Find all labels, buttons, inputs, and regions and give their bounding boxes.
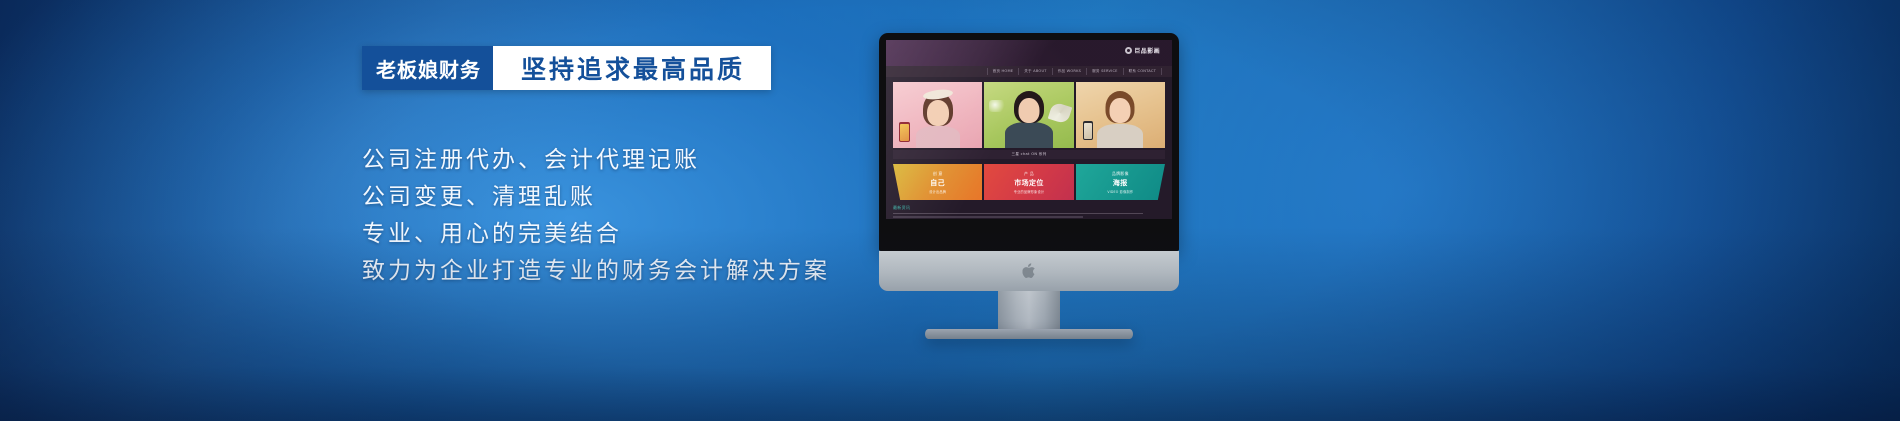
- site-hero: 巨品影画: [886, 40, 1172, 66]
- phone-prop-icon: [1083, 121, 1093, 140]
- site-name: 巨品影画: [1134, 46, 1160, 55]
- promo-top: 创 意: [933, 171, 943, 177]
- imac-screen: 巨品影画 首页 HOME 关于 ABOUT 作品 WORKS 服务 SERVIC…: [886, 40, 1172, 219]
- promo-main: 自己: [930, 178, 945, 188]
- nav-item-home[interactable]: 首页 HOME: [987, 68, 1019, 75]
- fan-prop-icon: [1047, 101, 1072, 124]
- imac-stand-neck: [998, 291, 1060, 329]
- nav-item-contact[interactable]: 联系 CONTACT: [1123, 68, 1162, 75]
- footer-placeholder-line: [893, 216, 1083, 218]
- promo-banner: 老板娘财务 坚持追求最高品质 公司注册代办、会计代理记账 公司变更、清理乱账 专…: [0, 0, 1900, 421]
- site-footer: 最新资讯: [893, 205, 1165, 219]
- promo-sub: 专业的品牌形象设计: [1014, 189, 1045, 194]
- phone-prop-icon: [899, 122, 910, 142]
- figure-head: [1018, 98, 1039, 123]
- model-photo-beige[interactable]: [1076, 82, 1165, 148]
- nav-item-service[interactable]: 服务 SERVICE: [1086, 68, 1122, 75]
- figure-body: [1005, 122, 1053, 148]
- model-photo-pink[interactable]: [893, 82, 982, 148]
- figure-body: [916, 126, 960, 148]
- promo-top: 产 品: [1024, 171, 1034, 177]
- promo-sub: VIDEO 影像制作: [1107, 189, 1133, 194]
- promo-card-product[interactable]: 产 品 市场定位 专业的品牌形象设计: [984, 164, 1073, 200]
- circle-logo-icon: [1125, 47, 1132, 54]
- photo-row: [893, 82, 1165, 148]
- nav-item-works[interactable]: 作品 WORKS: [1052, 68, 1086, 75]
- footer-title: 最新资讯: [893, 205, 1165, 211]
- nav-item-about[interactable]: 关于 ABOUT: [1018, 68, 1051, 75]
- promo-main: 海报: [1113, 178, 1128, 188]
- promo-row: 创 意 自己 设计出品牌 产 品 市场定位 专业的品牌形象设计 品牌影像: [893, 164, 1165, 200]
- imac-bezel: 巨品影画 首页 HOME 关于 ABOUT 作品 WORKS 服务 SERVIC…: [879, 33, 1179, 251]
- figure-body: [1097, 124, 1143, 148]
- model-photo-green[interactable]: [984, 82, 1073, 148]
- apple-logo-icon: [1023, 263, 1036, 278]
- brand-label: 老板娘财务: [362, 46, 493, 90]
- imac-chin: [879, 251, 1179, 291]
- overlay-text-glow: [989, 100, 1009, 112]
- imac-mockup: 巨品影画 首页 HOME 关于 ABOUT 作品 WORKS 服务 SERVIC…: [879, 33, 1179, 339]
- headline-bar: 老板娘财务 坚持追求最高品质: [362, 46, 771, 90]
- footer-divider: [893, 213, 1143, 214]
- promo-card-poster[interactable]: 品牌影像 海报 VIDEO 影像制作: [1076, 164, 1165, 200]
- website-preview: 巨品影画 首页 HOME 关于 ABOUT 作品 WORKS 服务 SERVIC…: [886, 40, 1172, 219]
- site-body: 三星 chat ON 系列 创 意 自己 设计出品牌 产 品 市场定位: [886, 77, 1172, 219]
- promo-card-creative[interactable]: 创 意 自己 设计出品牌: [893, 164, 982, 200]
- imac-stand-base: [925, 329, 1133, 339]
- promo-top: 品牌影像: [1112, 171, 1129, 177]
- figure-head: [1110, 98, 1131, 123]
- figure-head: [927, 100, 949, 126]
- promo-sub: 设计出品牌: [929, 189, 946, 194]
- photo-caption: 三星 chat ON 系列: [893, 150, 1165, 159]
- site-nav[interactable]: 首页 HOME 关于 ABOUT 作品 WORKS 服务 SERVICE 联系 …: [886, 66, 1172, 77]
- site-logo: 巨品影画: [1125, 46, 1160, 55]
- promo-main: 市场定位: [1014, 178, 1044, 188]
- slogan-label: 坚持追求最高品质: [493, 46, 771, 90]
